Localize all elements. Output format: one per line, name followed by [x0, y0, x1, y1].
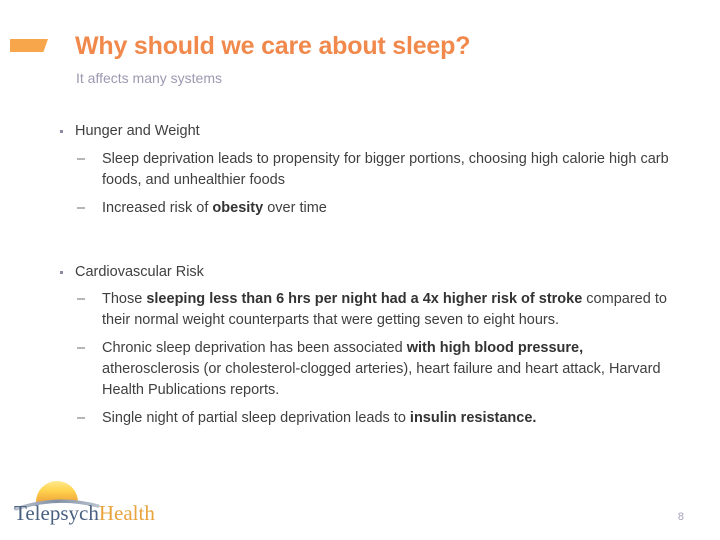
- dash-bullet-icon: –: [77, 198, 85, 219]
- bullet-level2-text: Increased risk of obesity over time: [102, 200, 327, 216]
- bullet-level2-text: Those sleeping less than 6 hrs per night…: [102, 291, 667, 328]
- bullet-level2: –Chronic sleep deprivation has been asso…: [58, 338, 683, 401]
- dash-bullet-icon: –: [77, 338, 85, 359]
- bullet-level2: –Those sleeping less than 6 hrs per nigh…: [58, 289, 683, 331]
- bullet-square-icon: [60, 130, 63, 133]
- bullet-group: Cardiovascular Risk–Those sleeping less …: [58, 263, 683, 430]
- title-accent-bar: [10, 39, 48, 52]
- bullet-level1: Cardiovascular Risk: [58, 263, 683, 283]
- slide-body: Hunger and Weight–Sleep deprivation lead…: [58, 122, 683, 429]
- bullet-level2-text: Chronic sleep deprivation has been assoc…: [102, 340, 661, 398]
- bullet-level1-label: Cardiovascular Risk: [75, 264, 204, 280]
- page-title: Why should we care about sleep?: [75, 32, 470, 61]
- dash-bullet-icon: –: [77, 408, 85, 429]
- logo-wordmark: TelepsychHealth: [14, 501, 155, 526]
- bullet-group: Hunger and Weight–Sleep deprivation lead…: [58, 122, 683, 219]
- bullet-level2: –Increased risk of obesity over time: [58, 198, 683, 219]
- slide-canvas: Why should we care about sleep? It affec…: [0, 0, 720, 540]
- company-logo: TelepsychHealth: [14, 473, 184, 531]
- group-spacer: [58, 239, 683, 263]
- bullet-level1: Hunger and Weight: [58, 122, 683, 142]
- bullet-level2-text: Single night of partial sleep deprivatio…: [102, 410, 536, 426]
- dash-bullet-icon: –: [77, 149, 85, 170]
- page-number: 8: [678, 511, 684, 523]
- logo-word-health: Health: [99, 501, 155, 525]
- logo-word-telepsych: Telepsych: [14, 501, 99, 525]
- bullet-square-icon: [60, 271, 63, 274]
- bullet-level2: –Single night of partial sleep deprivati…: [58, 408, 683, 429]
- bullet-level1-label: Hunger and Weight: [75, 123, 200, 139]
- bullet-level2: –Sleep deprivation leads to propensity f…: [58, 149, 683, 191]
- page-subtitle: It affects many systems: [76, 70, 222, 86]
- dash-bullet-icon: –: [77, 289, 85, 310]
- bullet-level2-text: Sleep deprivation leads to propensity fo…: [102, 151, 669, 188]
